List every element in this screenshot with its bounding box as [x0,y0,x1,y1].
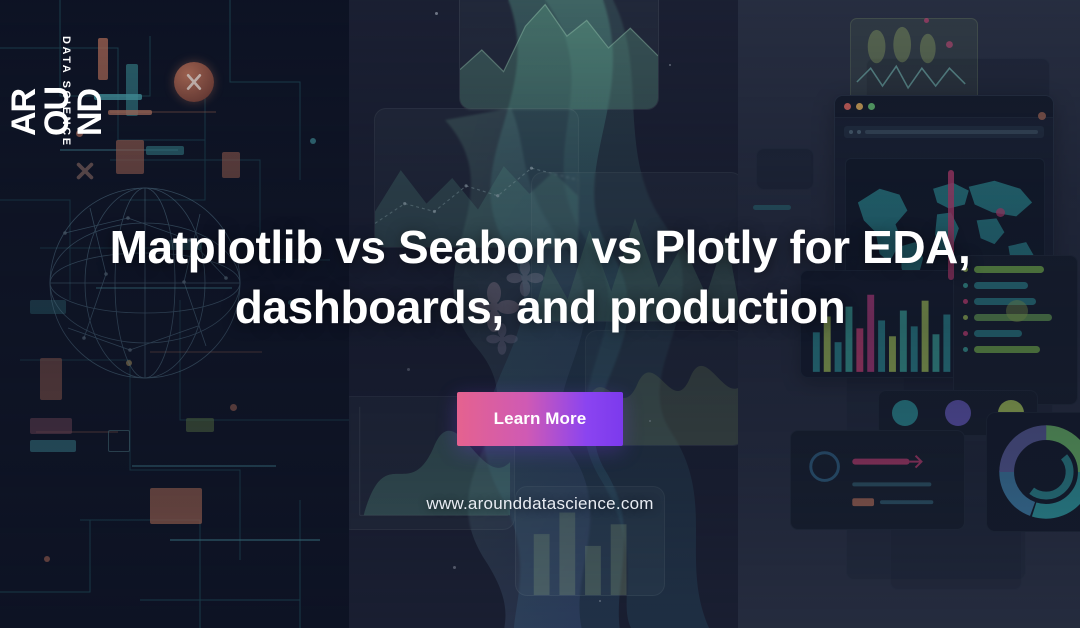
learn-more-button[interactable]: Learn More [457,392,623,446]
blog-hero-banner: AR OU ND DATA SCIENCE Matplotlib vs Seab… [0,0,1080,628]
hero-content: Matplotlib vs Seaborn vs Plotly for EDA,… [0,0,1080,628]
site-url-label: www.arounddatascience.com [426,494,653,514]
page-title: Matplotlib vs Seaborn vs Plotly for EDA,… [90,218,990,338]
